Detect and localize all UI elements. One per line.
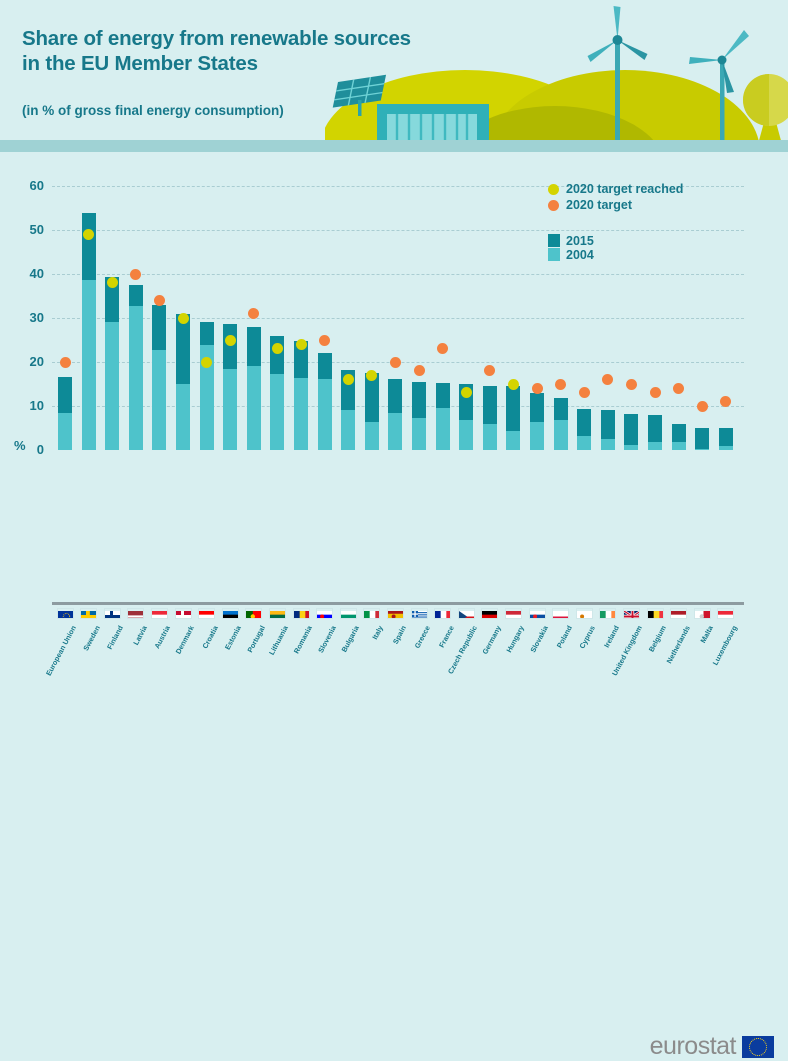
- legend-label-target-reached: 2020 target reached: [566, 182, 683, 196]
- country-label: Bulgaria: [340, 624, 361, 654]
- bar-segment-2004[interactable]: [58, 413, 72, 450]
- country-label: Slovenia: [316, 624, 338, 654]
- legend-dot-target-reached: [548, 184, 559, 195]
- bar-segment-2004[interactable]: [270, 374, 284, 450]
- bar-segment-2004[interactable]: [483, 424, 497, 450]
- bar-segment-2015[interactable]: [672, 424, 686, 441]
- country-label: Romania: [292, 624, 314, 655]
- target-dot[interactable]: [130, 269, 141, 280]
- bar-segment-2015[interactable]: [648, 415, 662, 441]
- bar-segment-2004[interactable]: [152, 350, 166, 450]
- bar-segment-2004[interactable]: [624, 445, 638, 450]
- country-label: Lithuania: [267, 624, 290, 656]
- page-title-line2: in the EU Member States: [22, 52, 258, 75]
- country-label: Belgium: [647, 624, 668, 653]
- country-label: Portugal: [245, 624, 267, 654]
- footer: eurostat: [0, 512, 788, 558]
- bar-segment-2015[interactable]: [223, 324, 237, 369]
- target-dot[interactable]: [414, 365, 425, 376]
- bar-segment-2015[interactable]: [506, 386, 520, 430]
- target-reached-dot[interactable]: [343, 374, 354, 385]
- legend-swatch-2015: [548, 234, 560, 247]
- country-label: Finland: [105, 624, 125, 651]
- country-flag-icon: [599, 608, 616, 619]
- target-reached-dot[interactable]: [296, 339, 307, 350]
- bar-group[interactable]: [105, 277, 119, 450]
- header-divider-strip: [0, 140, 788, 152]
- country-flag-icon: [458, 608, 475, 619]
- legend-label-2015: 2015: [566, 234, 594, 248]
- country-flag-icon: [717, 608, 734, 619]
- country-label: Luxembourg: [710, 624, 738, 667]
- bar-segment-2015[interactable]: [388, 379, 402, 414]
- country-label: Spain: [391, 624, 408, 646]
- country-label: Austria: [153, 624, 173, 650]
- country-flag-icon: [245, 608, 262, 619]
- bar-group[interactable]: [577, 409, 591, 450]
- y-tick-label: 30: [4, 310, 44, 325]
- bar-segment-2015[interactable]: [58, 377, 72, 413]
- bar-segment-2004[interactable]: [388, 413, 402, 450]
- legend-label-2004: 2004: [566, 248, 594, 262]
- country-label: Estonia: [223, 624, 243, 651]
- bar-group[interactable]: [530, 393, 544, 450]
- bar-segment-2004[interactable]: [719, 446, 733, 450]
- bar-segment-2015[interactable]: [436, 383, 450, 408]
- bar-segment-2015[interactable]: [601, 410, 615, 440]
- y-tick-label: 40: [4, 266, 44, 281]
- bar-segment-2004[interactable]: [554, 420, 568, 450]
- target-reached-dot[interactable]: [83, 229, 94, 240]
- target-dot[interactable]: [673, 383, 684, 394]
- page-title: Share of energy from renewable sources i…: [22, 26, 452, 76]
- target-dot[interactable]: [650, 387, 661, 398]
- bar-segment-2004[interactable]: [365, 422, 379, 450]
- legend-label-target: 2020 target: [566, 198, 632, 212]
- country-flag-icon: [434, 608, 451, 619]
- country-label: Slovakia: [528, 624, 550, 654]
- bar-segment-2004[interactable]: [129, 306, 143, 450]
- bar-group[interactable]: [200, 322, 214, 450]
- country-flag-icon: [340, 608, 357, 619]
- bar-group[interactable]: [436, 383, 450, 450]
- target-dot[interactable]: [532, 383, 543, 394]
- country-flag-icon: [316, 608, 333, 619]
- legend-item-target[interactable]: 2020 target: [548, 198, 758, 213]
- bar-group[interactable]: [82, 213, 96, 450]
- bar-segment-2004[interactable]: [695, 449, 709, 450]
- bar-segment-2015[interactable]: [200, 322, 214, 345]
- country-label: Italy: [370, 624, 385, 641]
- bar-group[interactable]: [412, 382, 426, 450]
- target-dot[interactable]: [437, 343, 448, 354]
- bar-segment-2015[interactable]: [270, 336, 284, 374]
- bar-group[interactable]: [58, 377, 72, 450]
- country-flag-icon: [222, 608, 239, 619]
- bar-segment-2015[interactable]: [412, 382, 426, 418]
- bar-segment-2004[interactable]: [601, 439, 615, 450]
- bar-segment-2004[interactable]: [530, 422, 544, 450]
- y-tick-label: 20: [4, 354, 44, 369]
- eu-flag-icon: [742, 1036, 774, 1058]
- legend-item-target-reached[interactable]: 2020 target reached: [548, 182, 758, 197]
- target-reached-dot[interactable]: [201, 357, 212, 368]
- bar-group[interactable]: [365, 373, 379, 450]
- bar-group[interactable]: [483, 386, 497, 450]
- bar-group[interactable]: [624, 414, 638, 450]
- country-flag-icon: [411, 608, 428, 619]
- target-dot[interactable]: [555, 379, 566, 390]
- target-dot[interactable]: [626, 379, 637, 390]
- country-label: Malta: [699, 624, 716, 644]
- country-flag-icon: [269, 608, 286, 619]
- bar-group[interactable]: [247, 327, 261, 450]
- bar-segment-2004[interactable]: [341, 410, 355, 450]
- infographic-root: Share of energy from renewable sources i…: [0, 0, 788, 558]
- header: Share of energy from renewable sources i…: [0, 0, 788, 152]
- country-flag-icon: [670, 608, 687, 619]
- header-illustration: [325, 0, 788, 152]
- country-label: Sweden: [81, 624, 102, 652]
- target-dot[interactable]: [154, 295, 165, 306]
- bar-group[interactable]: [719, 428, 733, 450]
- bar-segment-2015[interactable]: [554, 398, 568, 420]
- bar-segment-2004[interactable]: [223, 369, 237, 450]
- country-flag-icon: [529, 608, 546, 619]
- bar-segment-2004[interactable]: [672, 442, 686, 450]
- target-dot[interactable]: [484, 365, 495, 376]
- target-reached-dot[interactable]: [178, 313, 189, 324]
- bar-segment-2004[interactable]: [459, 420, 473, 450]
- bar-segment-2004[interactable]: [176, 384, 190, 450]
- bar-segment-2015[interactable]: [176, 314, 190, 384]
- bar-segment-2015[interactable]: [483, 386, 497, 425]
- chart-area: 0102030405060 % European UnionSwedenFinl…: [0, 152, 788, 558]
- target-reached-dot[interactable]: [461, 387, 472, 398]
- page-title-line1: Share of energy from renewable sources: [22, 27, 411, 50]
- eurostat-wordmark: eurostat: [650, 1032, 736, 1061]
- country-flag-icon: [552, 608, 569, 619]
- bar-segment-2015[interactable]: [577, 409, 591, 437]
- target-reached-dot[interactable]: [366, 370, 377, 381]
- country-flag-icon: [576, 608, 593, 619]
- bar-segment-2004[interactable]: [82, 280, 96, 450]
- bar-segment-2004[interactable]: [247, 366, 261, 450]
- country-flag-icon: [505, 608, 522, 619]
- bar-group[interactable]: [294, 341, 308, 450]
- bar-segment-2015[interactable]: [318, 353, 332, 379]
- gridline: [52, 274, 744, 275]
- bar-segment-2015[interactable]: [82, 213, 96, 280]
- target-dot[interactable]: [60, 357, 71, 368]
- bar-group[interactable]: [695, 428, 709, 450]
- country-flag-icon: [104, 608, 121, 619]
- country-label: Netherlands: [664, 624, 691, 665]
- country-label: Greece: [413, 624, 432, 650]
- legend-dot-target: [548, 200, 559, 211]
- renewable-energy-illustration: [325, 0, 788, 152]
- country-flag-icon: [481, 608, 498, 619]
- target-dot[interactable]: [579, 387, 590, 398]
- country-flag-icon: [151, 608, 168, 619]
- country-flag-icon: [175, 608, 192, 619]
- bar-segment-2015[interactable]: [719, 428, 733, 446]
- y-tick-label: 60: [4, 178, 44, 193]
- bar-segment-2004[interactable]: [105, 322, 119, 450]
- country-flag-icon: [387, 608, 404, 619]
- country-flag-icon: [57, 608, 74, 619]
- bar-group[interactable]: [152, 305, 166, 450]
- bar-group[interactable]: [129, 285, 143, 450]
- country-label: Cyprus: [578, 624, 598, 650]
- target-reached-dot[interactable]: [225, 335, 236, 346]
- bar-segment-2015[interactable]: [530, 393, 544, 422]
- bar-group[interactable]: [388, 379, 402, 450]
- target-reached-dot[interactable]: [107, 277, 118, 288]
- country-label: Hungary: [505, 624, 527, 654]
- country-flag-icon: [293, 608, 310, 619]
- bar-group[interactable]: [554, 398, 568, 450]
- bar-segment-2004[interactable]: [412, 418, 426, 450]
- country-label: Ireland: [602, 624, 621, 649]
- country-flag-icon: [623, 608, 640, 619]
- bar-segment-2004[interactable]: [577, 436, 591, 450]
- bar-group[interactable]: [672, 424, 686, 450]
- bar-segment-2004[interactable]: [294, 378, 308, 450]
- bar-group[interactable]: [176, 314, 190, 450]
- target-dot[interactable]: [697, 401, 708, 412]
- country-label: Denmark: [174, 624, 196, 655]
- country-flag-icon: [647, 608, 664, 619]
- target-reached-dot[interactable]: [508, 379, 519, 390]
- legend-swatch-2004: [548, 248, 560, 261]
- bar-segment-2015[interactable]: [152, 305, 166, 350]
- country-label: Croatia: [200, 624, 220, 650]
- target-dot[interactable]: [390, 357, 401, 368]
- bar-segment-2015[interactable]: [129, 285, 143, 306]
- x-axis-baseline: [52, 602, 744, 605]
- eu-stars-icon: [749, 1038, 767, 1056]
- bar-group[interactable]: [648, 415, 662, 450]
- bar-segment-2015[interactable]: [624, 414, 638, 445]
- bar-group[interactable]: [318, 353, 332, 450]
- bar-group[interactable]: [506, 386, 520, 450]
- bar-segment-2015[interactable]: [247, 327, 261, 366]
- country-label: Latvia: [131, 624, 149, 647]
- bar-group[interactable]: [601, 410, 615, 450]
- chart-legend: 2020 target reached 2020 target 2015 200…: [548, 182, 758, 265]
- target-dot[interactable]: [319, 335, 330, 346]
- page-subtitle: (in % of gross final energy consumption): [22, 103, 422, 118]
- bar-segment-2004[interactable]: [436, 408, 450, 450]
- country-label: Germany: [480, 624, 503, 656]
- bar-segment-2004[interactable]: [506, 431, 520, 450]
- country-flag-icon: [80, 608, 97, 619]
- bar-segment-2004[interactable]: [648, 442, 662, 450]
- target-dot[interactable]: [602, 374, 613, 385]
- y-axis-label: %: [14, 438, 26, 453]
- y-tick-label: 10: [4, 398, 44, 413]
- country-flag-icon: [363, 608, 380, 619]
- country-label: Poland: [554, 624, 573, 649]
- country-flag-icon: [694, 608, 711, 619]
- bar-segment-2004[interactable]: [318, 379, 332, 450]
- bar-segment-2015[interactable]: [695, 428, 709, 449]
- country-label: France: [437, 624, 456, 649]
- legend-item-2004[interactable]: 2004: [548, 247, 758, 264]
- y-tick-label: 50: [4, 222, 44, 237]
- country-label: European Union: [44, 624, 78, 677]
- country-flag-icon: [127, 608, 144, 619]
- country-flag-icon: [198, 608, 215, 619]
